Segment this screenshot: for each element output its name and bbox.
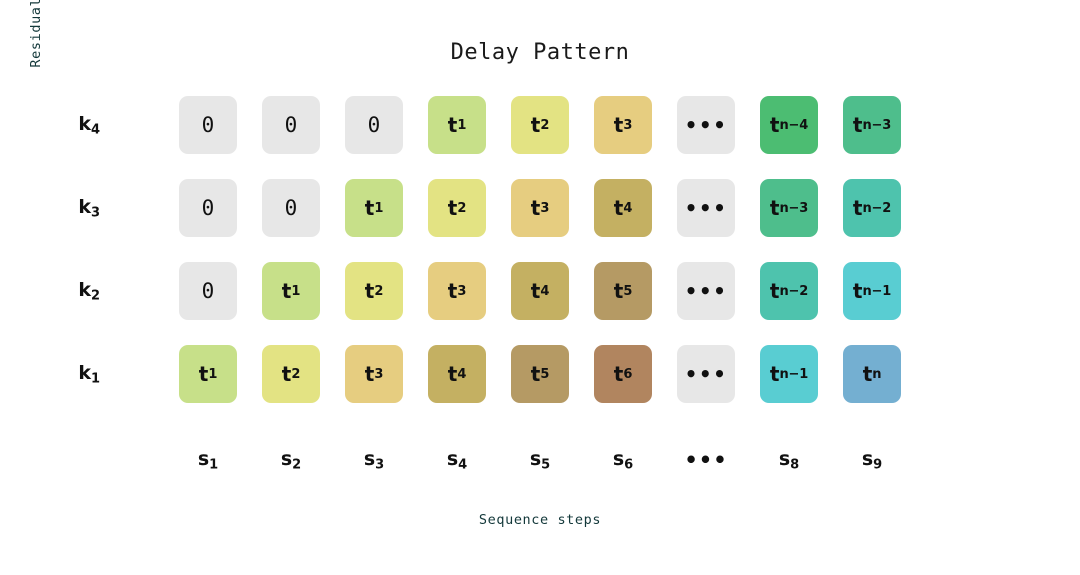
- grid-cell: tn−3: [843, 96, 901, 154]
- grid-cell: 0: [179, 262, 237, 320]
- grid-cell: t2: [428, 179, 486, 237]
- grid-cell: 0: [179, 179, 237, 237]
- grid-cell: t3: [594, 96, 652, 154]
- delay-pattern-grid: k4k3k2k1s1s2s3s4s5s6•••s8s9000t1t2t3•••t…: [0, 0, 1080, 575]
- grid-cell: t4: [594, 179, 652, 237]
- grid-cell: t2: [345, 262, 403, 320]
- grid-cell: tn: [843, 345, 901, 403]
- col-label-s3: s3: [345, 450, 403, 472]
- row-label-k4: k4: [40, 115, 100, 137]
- row-label-k2: k2: [40, 281, 100, 303]
- grid-cell: t1: [179, 345, 237, 403]
- grid-cell: t6: [594, 345, 652, 403]
- grid-cell: tn−1: [843, 262, 901, 320]
- col-label-s6: s6: [594, 450, 652, 472]
- col-label-s4: s4: [428, 450, 486, 472]
- grid-cell: 0: [179, 96, 237, 154]
- col-label-ellipsis: •••: [677, 450, 735, 471]
- col-label-s1: s1: [179, 450, 237, 472]
- grid-cell: tn−2: [760, 262, 818, 320]
- grid-cell: t4: [511, 262, 569, 320]
- col-label-s9: s9: [843, 450, 901, 472]
- grid-cell: •••: [677, 262, 735, 320]
- grid-cell: t3: [428, 262, 486, 320]
- grid-cell: t3: [511, 179, 569, 237]
- grid-cell: t5: [594, 262, 652, 320]
- grid-cell: tn−2: [843, 179, 901, 237]
- row-label-k3: k3: [40, 198, 100, 220]
- col-label-s5: s5: [511, 450, 569, 472]
- grid-cell: •••: [677, 179, 735, 237]
- grid-cell: 0: [262, 179, 320, 237]
- grid-cell: •••: [677, 345, 735, 403]
- grid-cell: tn−1: [760, 345, 818, 403]
- grid-cell: t3: [345, 345, 403, 403]
- grid-cell: t5: [511, 345, 569, 403]
- grid-cell: t1: [345, 179, 403, 237]
- grid-cell: 0: [262, 96, 320, 154]
- grid-cell: t4: [428, 345, 486, 403]
- grid-cell: t2: [511, 96, 569, 154]
- col-label-s2: s2: [262, 450, 320, 472]
- row-label-k1: k1: [40, 364, 100, 386]
- col-label-s8: s8: [760, 450, 818, 472]
- grid-cell: tn−3: [760, 179, 818, 237]
- grid-cell: •••: [677, 96, 735, 154]
- grid-cell: 0: [345, 96, 403, 154]
- grid-cell: t1: [262, 262, 320, 320]
- grid-cell: t1: [428, 96, 486, 154]
- grid-cell: tn−4: [760, 96, 818, 154]
- grid-cell: t2: [262, 345, 320, 403]
